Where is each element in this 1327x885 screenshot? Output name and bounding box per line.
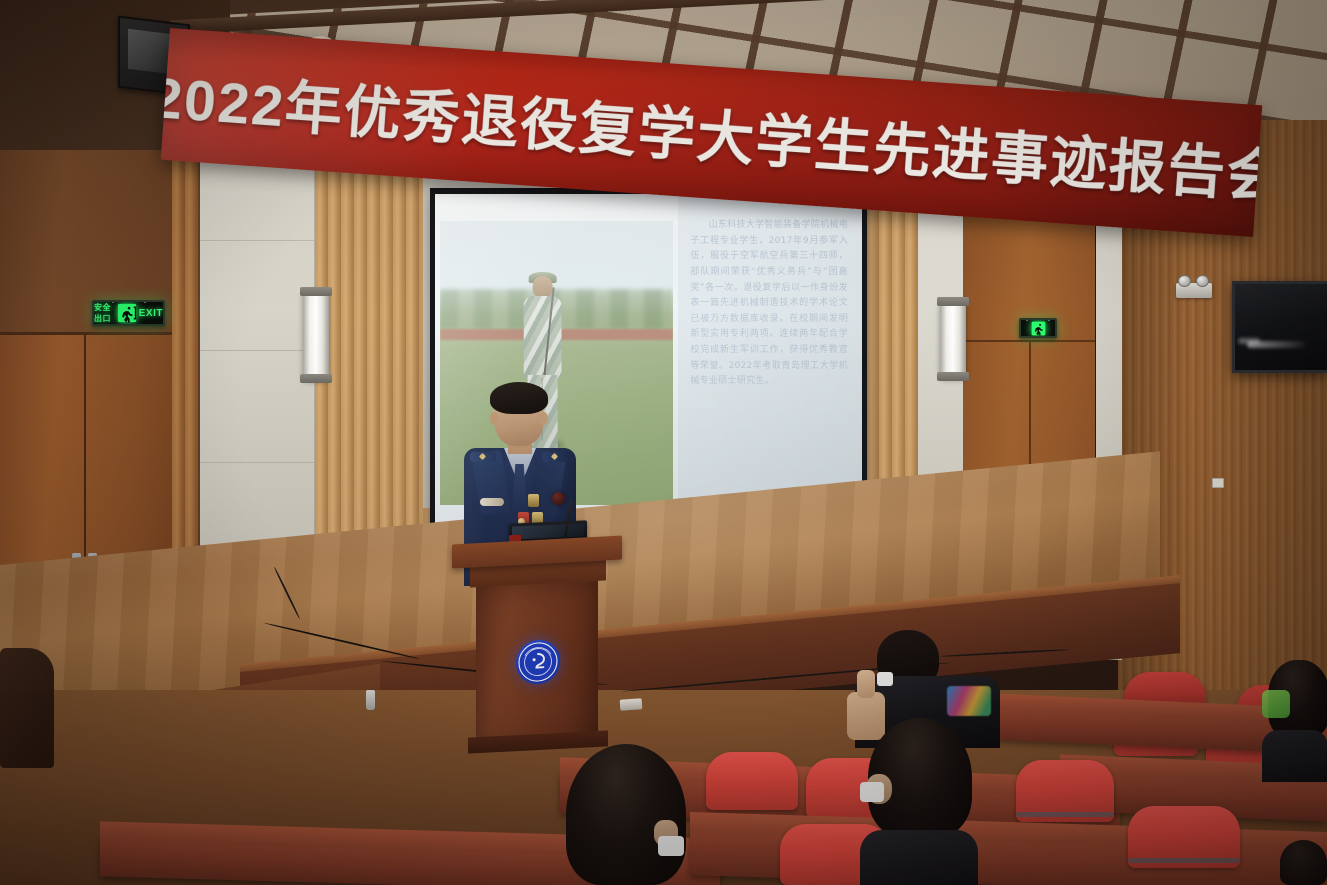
seat-gap xyxy=(1016,812,1114,817)
person-torso xyxy=(860,830,978,885)
exit-sign-label-cn: 安全出口 xyxy=(94,302,115,324)
person-short-hair-center xyxy=(860,718,978,885)
face-mask xyxy=(860,782,884,802)
speaker-hair xyxy=(490,382,548,414)
power-strip xyxy=(620,698,643,711)
person-torso xyxy=(1262,730,1327,782)
wall-mounted-tv xyxy=(1232,281,1327,373)
person-right-edge xyxy=(1262,660,1327,790)
wall-sconce-right xyxy=(940,300,966,378)
face-mask xyxy=(658,836,684,856)
side-chair xyxy=(0,648,54,768)
running-man-icon xyxy=(117,303,137,323)
person-head xyxy=(566,744,686,885)
speaker-medal xyxy=(528,494,539,507)
tshirt-graphic xyxy=(947,686,991,716)
exit-sign-right xyxy=(1019,318,1057,338)
seat-gap xyxy=(1128,858,1240,863)
auditorium-scene: 安全出口 EXIT xyxy=(0,0,1327,885)
podium xyxy=(458,540,616,748)
wall-outlet[interactable] xyxy=(1212,478,1224,488)
exit-sign-left: 安全出口 EXIT xyxy=(92,300,165,326)
green-item xyxy=(1262,690,1290,718)
emergency-light xyxy=(1176,283,1212,298)
person-head xyxy=(1280,840,1327,885)
slide-body-text: 山东科技大学智能装备学院机械电子工程专业学生，2017年9月参军入伍，服役于空军… xyxy=(690,218,848,390)
seat[interactable] xyxy=(706,752,798,810)
person-dark-hair-front-row xyxy=(566,744,686,885)
speaker-wings-badge-icon xyxy=(480,498,504,506)
wall-sconce-left xyxy=(303,290,329,380)
face-mask xyxy=(877,672,893,686)
person-bottom-left xyxy=(1280,840,1327,885)
exit-sign-label-en: EXIT xyxy=(139,308,163,319)
slide-text-block: 山东科技大学智能装备学院机械电子工程专业学生，2017年9月参军入伍，服役于空军… xyxy=(678,194,862,532)
microphone-icon xyxy=(552,492,565,505)
person-hand xyxy=(857,670,875,698)
university-emblem-icon xyxy=(516,639,560,685)
running-man-icon xyxy=(1031,321,1046,336)
water-bottle xyxy=(366,690,375,710)
